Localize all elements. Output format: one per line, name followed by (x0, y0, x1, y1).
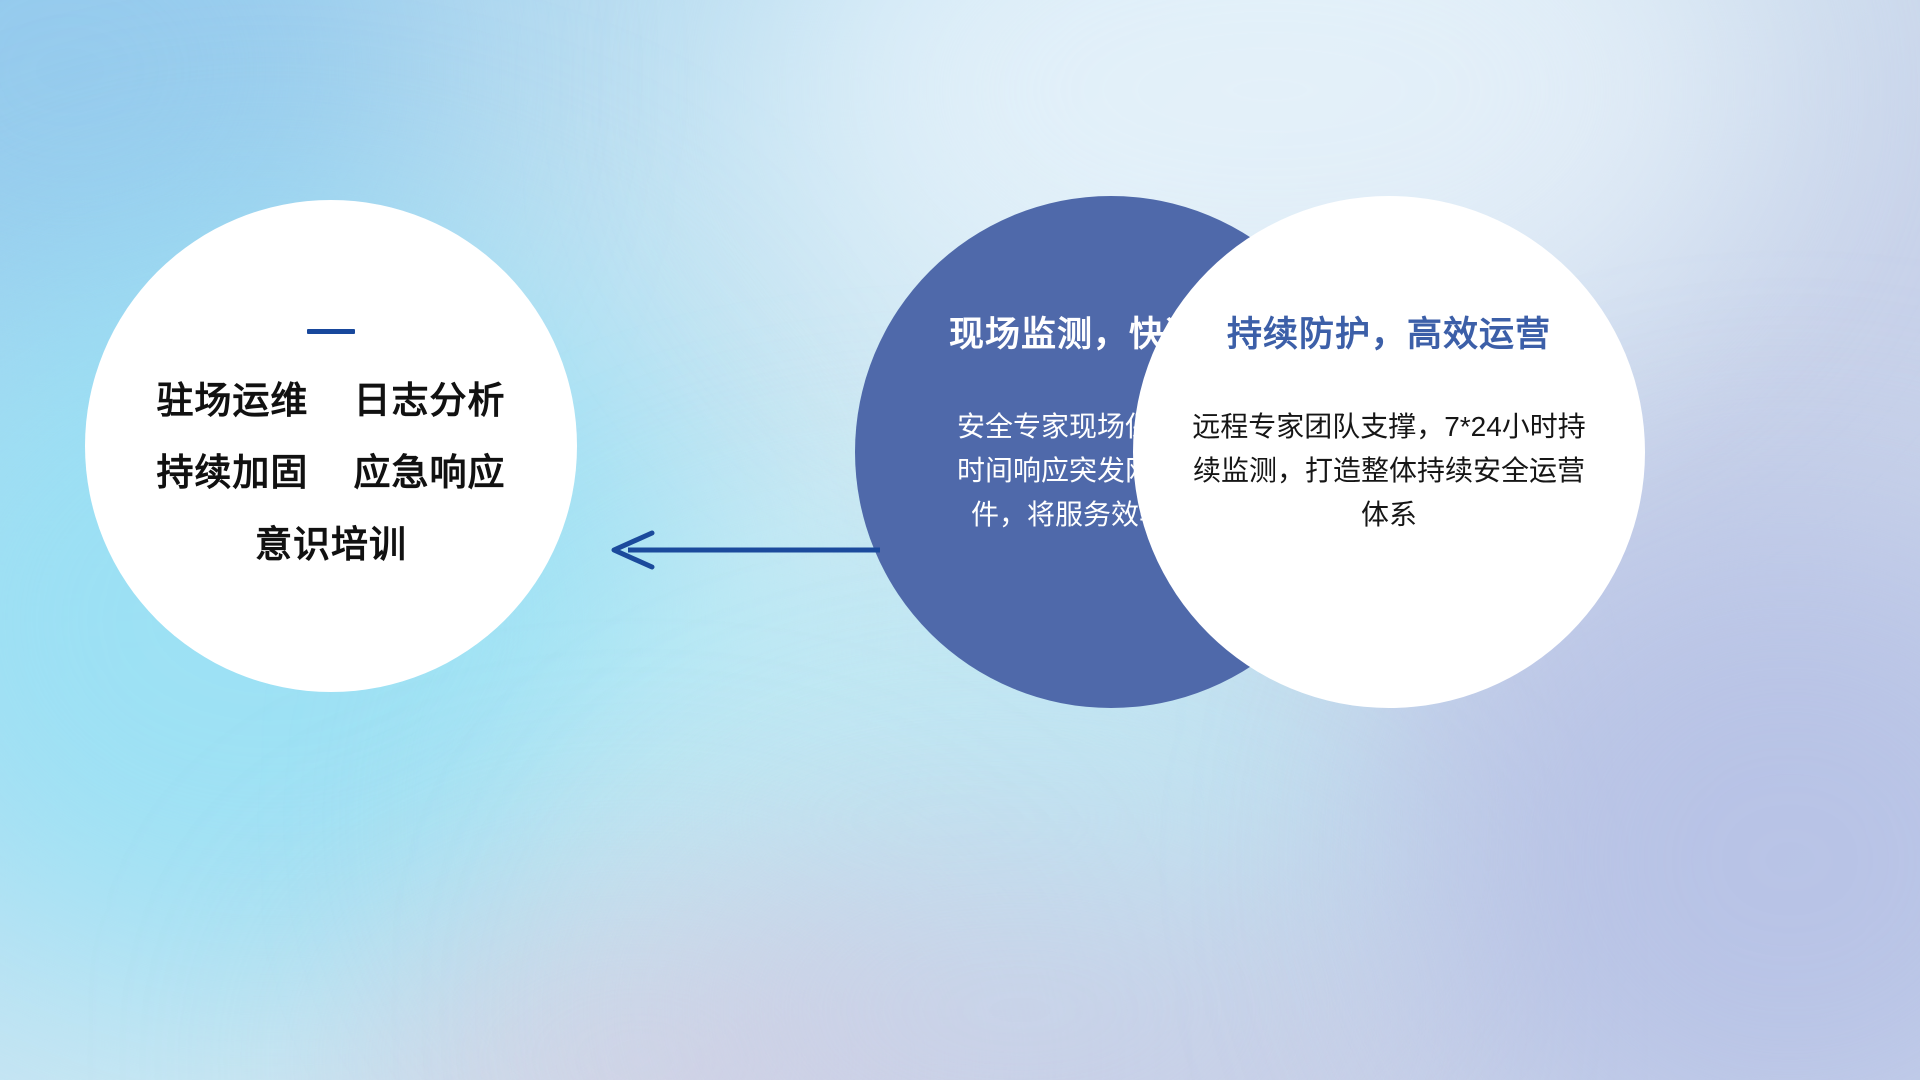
right-circle-content: 持续防护，高效运营 远程专家团队支撑，7*24小时持续监测，打造整体持续安全运营… (1133, 196, 1645, 708)
left-circle-content: 驻场运维 日志分析 持续加固 应急响应 意识培训 (85, 200, 577, 692)
accent-dash-divider (307, 329, 355, 334)
right-circle-body: 远程专家团队支撑，7*24小时持续监测，打造整体持续安全运营体系 (1184, 405, 1594, 538)
right-circle-title: 持续防护，高效运营 (1227, 306, 1551, 357)
left-keyword-line-1: 驻场运维 日志分析 (156, 382, 505, 419)
left-keyword-line-2: 持续加固 应急响应 (156, 454, 505, 491)
slide-canvas: 驻场运维 日志分析 持续加固 应急响应 意识培训 现场监测，快速响应 安全专家现… (0, 0, 1920, 1080)
left-keyword-line-3: 意识培训 (255, 526, 407, 563)
